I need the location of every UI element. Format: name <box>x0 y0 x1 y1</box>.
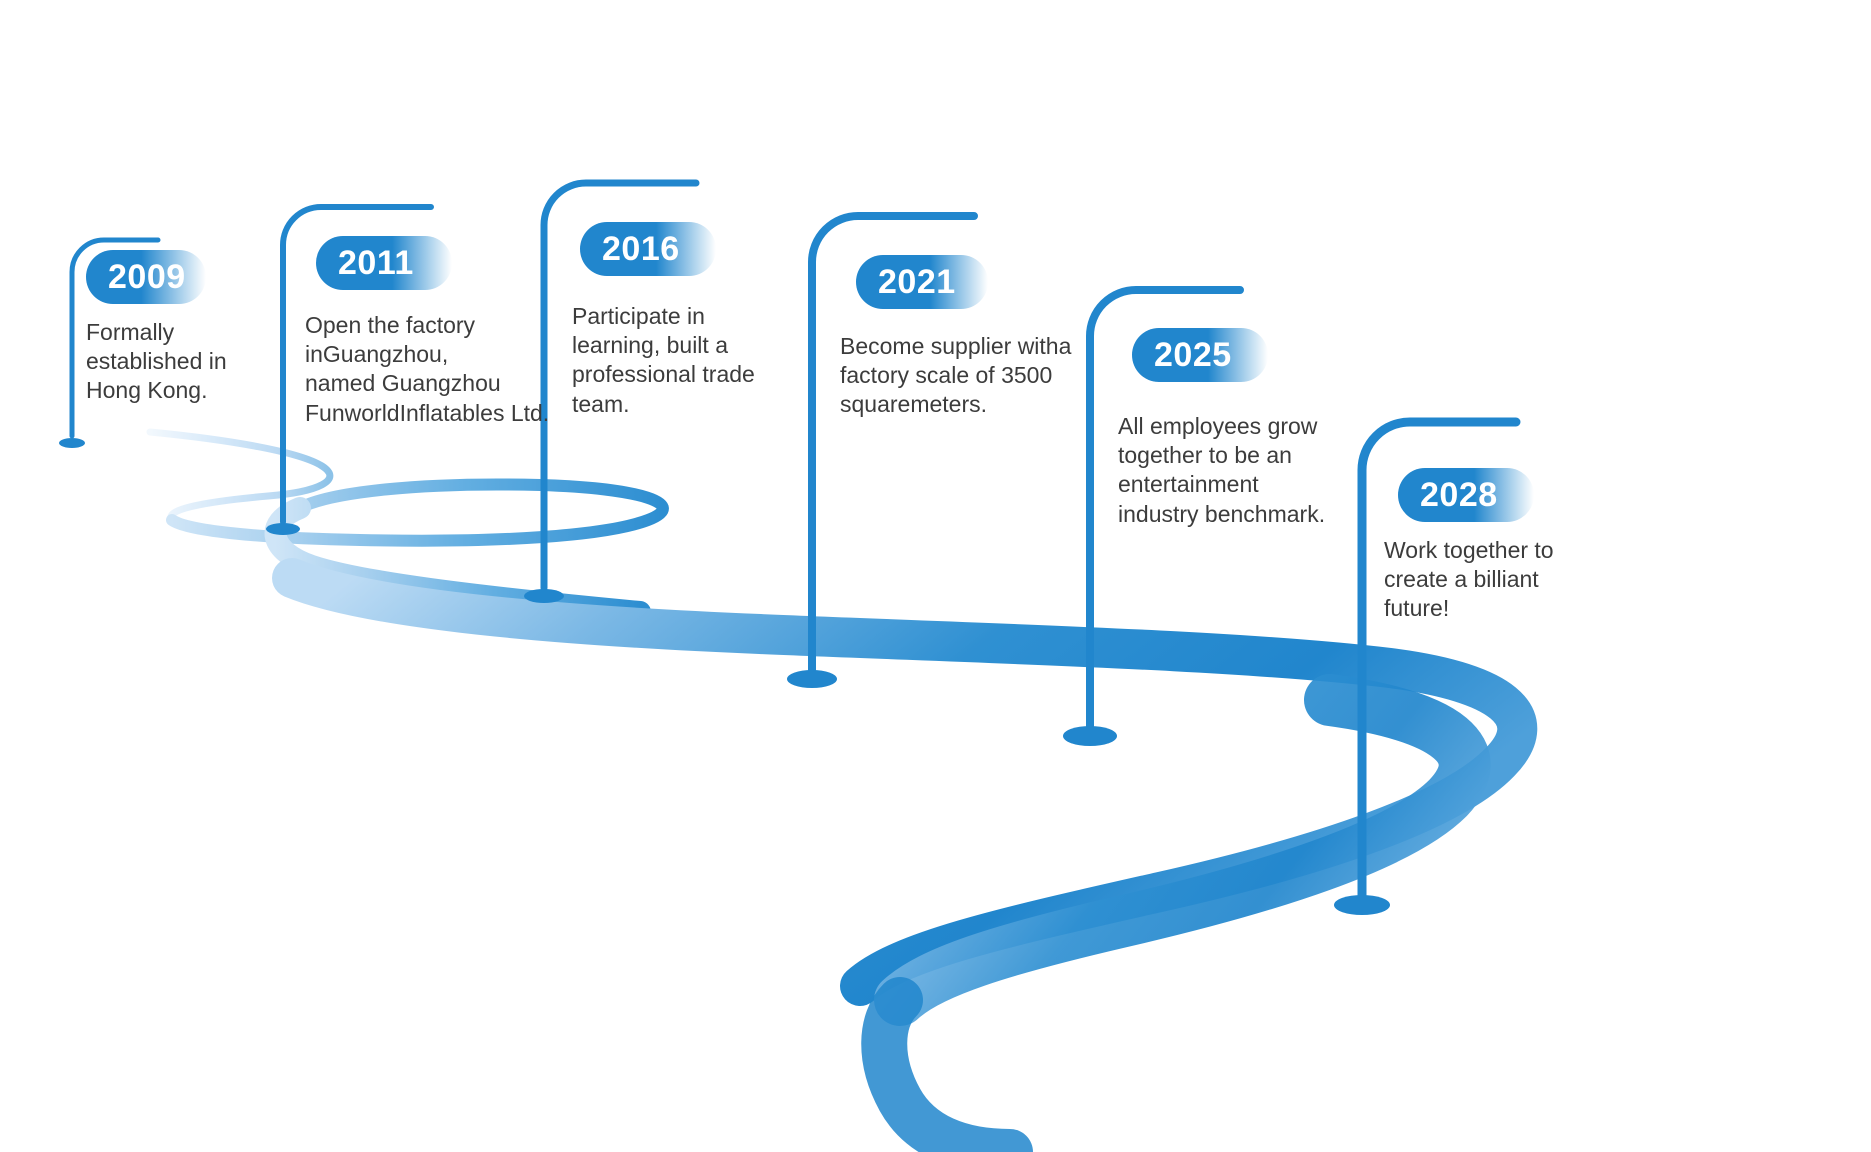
year-badge-2016[interactable]: 2016 <box>580 222 716 276</box>
milestone-description-2011: Open the factory inGuangzhou, named Guan… <box>305 311 555 428</box>
timeline-infographic: 2009 Formally established in Hong Kong. … <box>0 0 1871 1152</box>
milestone-description-2021: Become supplier witha factory scale of 3… <box>840 332 1075 420</box>
year-badge-2009[interactable]: 2009 <box>86 250 206 304</box>
milestone-description-2016: Participate in learning, built a profess… <box>572 302 772 419</box>
milestone-description-2028: Work together to create a billiant futur… <box>1384 536 1574 624</box>
year-badge-2025[interactable]: 2025 <box>1132 328 1268 382</box>
milestone-description-2025: All employees grow together to be an ent… <box>1118 412 1333 529</box>
year-badge-2011[interactable]: 2011 <box>316 236 452 290</box>
year-badge-2028[interactable]: 2028 <box>1398 468 1534 522</box>
year-badge-2021[interactable]: 2021 <box>856 255 988 309</box>
milestone-description-2009: Formally established in Hong Kong. <box>86 318 286 406</box>
milestone-poles <box>0 0 1871 1152</box>
